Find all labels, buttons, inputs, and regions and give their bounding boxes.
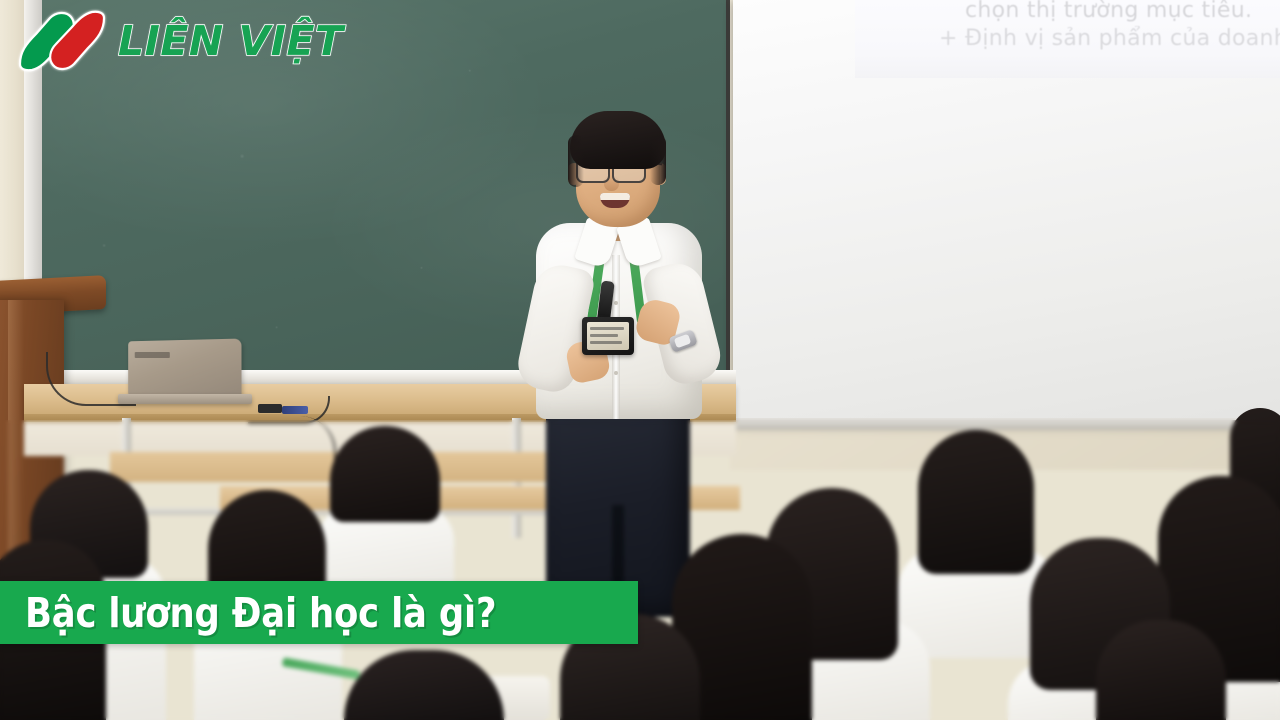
podium-highlight: [8, 300, 24, 568]
shirt-button: [614, 301, 618, 305]
banner-title: Bậc lương Đại học là gì?: [0, 589, 496, 637]
id-badge-text-line: [590, 327, 624, 330]
id-badge-text-line: [590, 334, 618, 337]
id-badge-text-line: [590, 341, 622, 344]
laptop-base: [118, 394, 252, 404]
title-banner: Bậc lương Đại học là gì?: [0, 581, 638, 644]
student-head: [344, 650, 504, 720]
brand-logo[interactable]: LIÊN VIỆT: [16, 6, 346, 76]
lecturer-hair-side-right: [650, 135, 666, 185]
projector-screen: chọn thị trường mục tiêu. + Định vị sản …: [733, 0, 1280, 424]
brand-logo-text: LIÊN VIỆT: [118, 21, 343, 62]
laptop-lid: [128, 339, 241, 398]
lecturer-hair-side-left: [568, 135, 584, 187]
projector-screen-bottom-bar: [733, 418, 1280, 430]
student-head: [918, 430, 1034, 574]
lecturer: [520, 105, 720, 605]
lecturer-teeth: [600, 193, 630, 200]
lien-viet-n-monogram-icon: [16, 8, 108, 74]
slide-line-1: chọn thị trường mục tiêu.: [855, 0, 1280, 24]
slide-line-2: + Định vị sản phẩm của doanh n: [855, 26, 1280, 52]
student-head: [1096, 620, 1226, 720]
screenshot-canvas: chọn thị trường mục tiêu. + Định vị sản …: [0, 0, 1280, 720]
laptop-brand-logo: [135, 352, 170, 358]
projected-slide-area: chọn thị trường mục tiêu. + Định vị sản …: [855, 0, 1280, 78]
shirt-button: [614, 371, 618, 375]
